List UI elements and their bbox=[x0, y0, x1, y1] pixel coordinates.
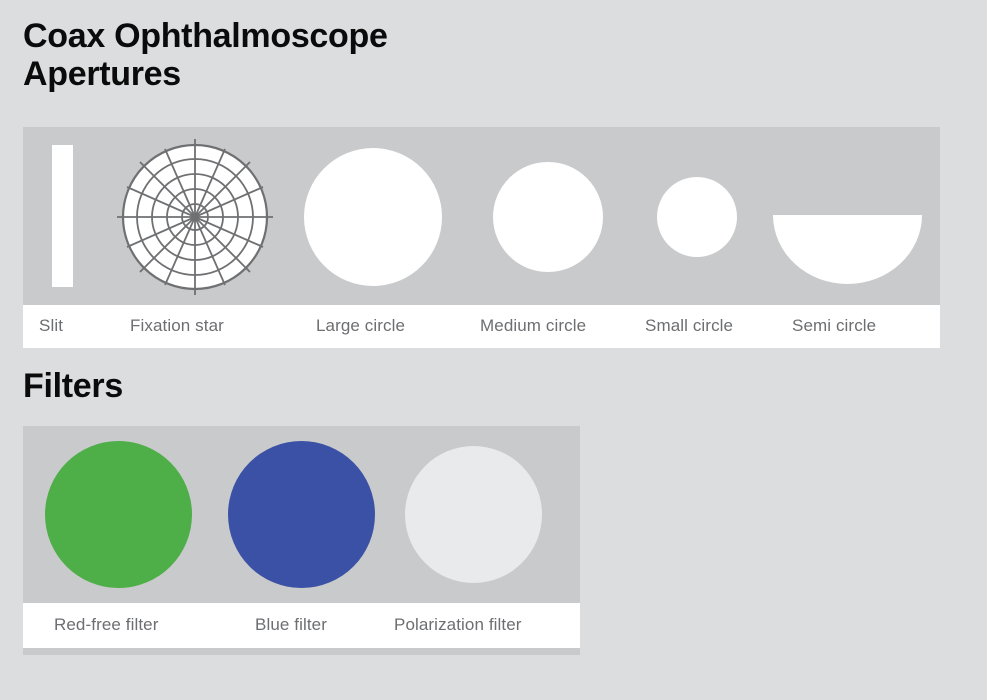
apertures-panel bbox=[23, 127, 940, 305]
medium-circle-icon bbox=[493, 162, 603, 272]
filter-label-blue: Blue filter bbox=[255, 615, 327, 635]
aperture-label-slit: Slit bbox=[39, 316, 63, 336]
page-title: Coax Ophthalmoscope Apertures bbox=[23, 17, 723, 93]
aperture-label-semi-circle: Semi circle bbox=[792, 316, 876, 336]
filters-section-title: Filters bbox=[23, 367, 123, 406]
semi-circle-icon bbox=[773, 215, 922, 284]
aperture-label-medium-circle: Medium circle bbox=[480, 316, 586, 336]
filter-label-polarization: Polarization filter bbox=[394, 615, 522, 635]
aperture-label-large-circle: Large circle bbox=[316, 316, 405, 336]
filters-label-strip: Red-free filter Blue filter Polarization… bbox=[23, 603, 580, 648]
small-circle-icon bbox=[657, 177, 737, 257]
blue-filter-icon bbox=[228, 441, 375, 588]
fixation-star-icon bbox=[115, 139, 275, 295]
aperture-label-fixation-star: Fixation star bbox=[130, 316, 224, 336]
green-filter-icon bbox=[45, 441, 192, 588]
polarization-filter-icon bbox=[405, 446, 542, 583]
slit-bar-icon bbox=[52, 145, 73, 287]
filter-label-red-free: Red-free filter bbox=[54, 615, 158, 635]
apertures-label-strip: Slit Fixation star Large circle Medium c… bbox=[23, 305, 940, 348]
large-circle-icon bbox=[304, 148, 442, 286]
aperture-label-small-circle: Small circle bbox=[645, 316, 733, 336]
